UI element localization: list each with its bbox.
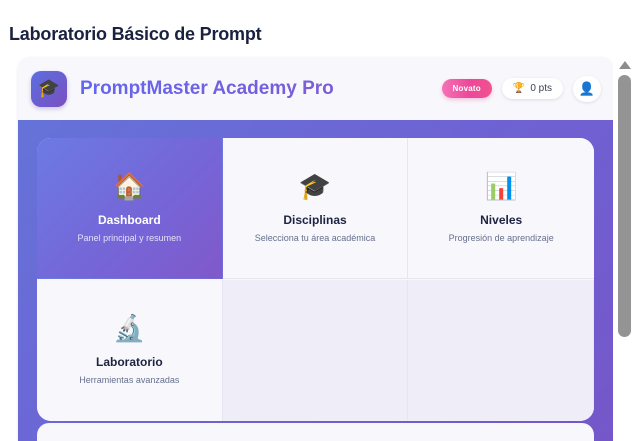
logo-glyph: 🎓: [38, 78, 60, 99]
status-badge-rank[interactable]: Novato: [442, 79, 492, 98]
nav-card-desc: Selecciona tu área académica: [255, 233, 376, 243]
nav-grid-filler: [408, 280, 594, 421]
page-root: Laboratorio Básico de Prompt 🎓 PromptMas…: [0, 0, 637, 441]
nav-card-desc: Panel principal y resumen: [78, 233, 182, 243]
graduation-cap-icon: 🎓: [31, 71, 67, 107]
scrollbar-track[interactable]: [613, 73, 637, 441]
avatar[interactable]: 👤: [573, 76, 601, 102]
page-title: Laboratorio Básico de Prompt: [9, 24, 261, 45]
nav-card-desc: Progresión de aprendizaje: [449, 233, 554, 243]
nav-band: 🏠 Dashboard Panel principal y resumen 🎓 …: [18, 120, 613, 441]
trophy-icon: 🏆: [513, 83, 525, 94]
nav-card-label: Dashboard: [98, 213, 161, 227]
caret-up-icon[interactable]: [613, 57, 637, 73]
microscope-icon: 🔬: [113, 315, 145, 341]
nav-card-niveles[interactable]: 📊 Niveles Progresión de aprendizaje: [408, 138, 594, 279]
graduation-cap-icon: 🎓: [299, 173, 331, 199]
nav-card-disciplinas[interactable]: 🎓 Disciplinas Selecciona tu área académi…: [223, 138, 409, 279]
points-value: 0 pts: [530, 83, 552, 94]
nav-grid: 🏠 Dashboard Panel principal y resumen 🎓 …: [37, 138, 594, 421]
app-title: PromptMaster Academy Pro: [80, 78, 334, 100]
user-avatar-icon: 👤: [579, 82, 595, 95]
house-icon: 🏠: [113, 173, 145, 199]
nav-grid-filler: [223, 280, 409, 421]
app-header: 🎓 PromptMaster Academy Pro Novato 🏆 0 pt…: [18, 57, 613, 120]
nav-card-dashboard[interactable]: 🏠 Dashboard Panel principal y resumen: [37, 138, 223, 279]
header-actions: Novato 🏆 0 pts 👤: [442, 76, 601, 102]
vertical-scrollbar[interactable]: [613, 57, 637, 441]
nav-card-desc: Herramientas avanzadas: [79, 375, 179, 385]
bar-chart-icon: 📊: [485, 173, 517, 199]
nav-card-label: Disciplinas: [283, 213, 346, 227]
next-section-card: [37, 423, 594, 441]
nav-card-laboratorio[interactable]: 🔬 Laboratorio Herramientas avanzadas: [37, 280, 223, 421]
nav-card-label: Niveles: [480, 213, 522, 227]
scrollbar-thumb[interactable]: [618, 75, 631, 337]
points-chip[interactable]: 🏆 0 pts: [502, 78, 563, 99]
app-window: 🎓 PromptMaster Academy Pro Novato 🏆 0 pt…: [18, 57, 613, 441]
nav-card-label: Laboratorio: [96, 355, 163, 369]
